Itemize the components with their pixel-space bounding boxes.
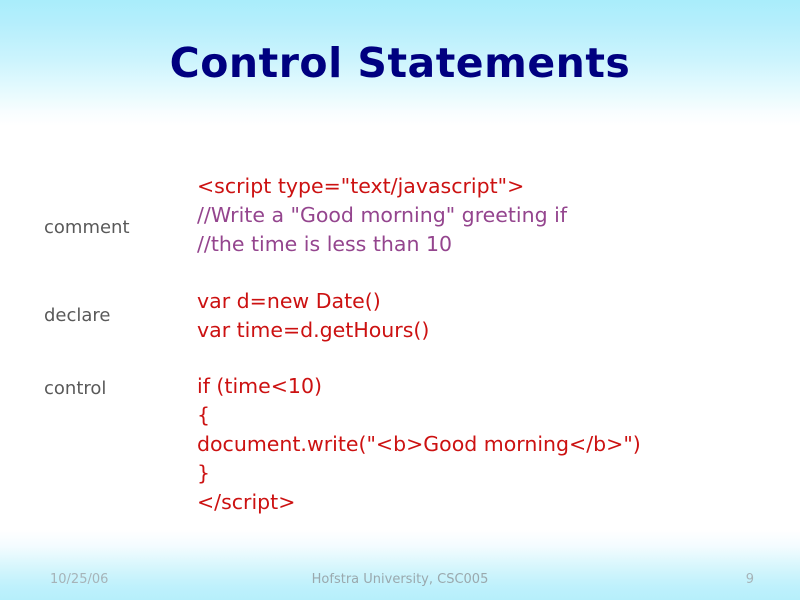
code-line-comment-2: //the time is less than 10 — [197, 230, 567, 259]
code-line-open-brace: { — [197, 401, 641, 430]
code-block-control: if (time<10) { document.write("<b>Good m… — [197, 372, 641, 517]
code-line-document-write: document.write("<b>Good morning</b>") — [197, 430, 641, 459]
code-block-declare: var d=new Date() var time=d.getHours() — [197, 287, 429, 345]
row-label-declare: declare — [44, 305, 194, 327]
footer-page-number: 9 — [746, 572, 754, 588]
code-line-close-brace: } — [197, 459, 641, 488]
row-label-control: control — [44, 378, 194, 400]
code-line-if-statement: if (time<10) — [197, 372, 641, 401]
code-line-var-date: var d=new Date() — [197, 287, 429, 316]
code-line-comment-1: //Write a "Good morning" greeting if — [197, 201, 567, 230]
slide-content: comment <script type="text/javascript"> … — [0, 0, 800, 600]
row-label-comment: comment — [44, 217, 194, 239]
code-block-comment: <script type="text/javascript"> //Write … — [197, 172, 567, 259]
code-line-script-close: </script> — [197, 488, 641, 517]
code-line-script-open: <script type="text/javascript"> — [197, 172, 567, 201]
slide-footer: 10/25/06 Hofstra University, CSC005 9 — [0, 560, 800, 600]
code-line-var-time: var time=d.getHours() — [197, 316, 429, 345]
slide-canvas: Control Statements comment <script type=… — [0, 0, 800, 600]
footer-course-label: Hofstra University, CSC005 — [0, 572, 800, 588]
